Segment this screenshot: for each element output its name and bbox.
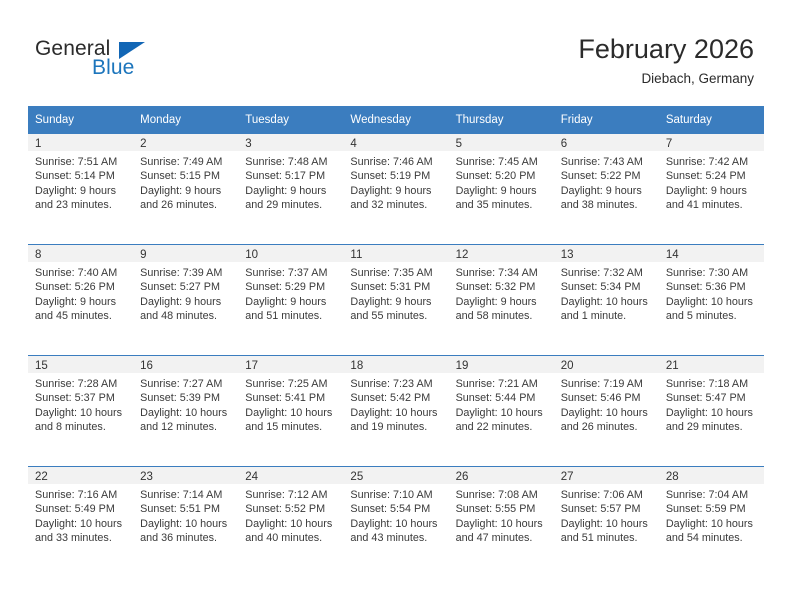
day-number: 7 — [659, 134, 764, 151]
calendar-day-cell[interactable]: 13Sunrise: 7:32 AMSunset: 5:34 PMDayligh… — [554, 245, 659, 356]
calendar-day-cell[interactable]: 23Sunrise: 7:14 AMSunset: 5:51 PMDayligh… — [133, 467, 238, 578]
day-number: 21 — [659, 356, 764, 373]
weekday-header-sunday: Sunday — [28, 106, 133, 134]
sunrise-text: Sunrise: 7:10 AM — [350, 488, 442, 502]
daylight-text: Daylight: 10 hours and 36 minutes. — [140, 517, 232, 546]
calendar-day-cell[interactable]: 3Sunrise: 7:48 AMSunset: 5:17 PMDaylight… — [238, 134, 343, 245]
daylight-text: Daylight: 10 hours and 33 minutes. — [35, 517, 127, 546]
daylight-text: Daylight: 9 hours and 58 minutes. — [456, 295, 548, 324]
sunset-text: Sunset: 5:22 PM — [561, 169, 653, 183]
weekday-header-tuesday: Tuesday — [238, 106, 343, 134]
sunset-text: Sunset: 5:27 PM — [140, 280, 232, 294]
sunrise-text: Sunrise: 7:40 AM — [35, 266, 127, 280]
location-subtitle: Diebach, Germany — [578, 69, 754, 89]
sunrise-text: Sunrise: 7:46 AM — [350, 155, 442, 169]
sunrise-text: Sunrise: 7:04 AM — [666, 488, 758, 502]
sunrise-text: Sunrise: 7:21 AM — [456, 377, 548, 391]
day-number: 12 — [449, 245, 554, 262]
daylight-text: Daylight: 10 hours and 12 minutes. — [140, 406, 232, 435]
daylight-text: Daylight: 10 hours and 43 minutes. — [350, 517, 442, 546]
calendar-day-cell[interactable]: 2Sunrise: 7:49 AMSunset: 5:15 PMDaylight… — [133, 134, 238, 245]
sunset-text: Sunset: 5:34 PM — [561, 280, 653, 294]
day-number: 23 — [133, 467, 238, 484]
calendar-day-cell[interactable]: 6Sunrise: 7:43 AMSunset: 5:22 PMDaylight… — [554, 134, 659, 245]
calendar-day-cell[interactable]: 16Sunrise: 7:27 AMSunset: 5:39 PMDayligh… — [133, 356, 238, 467]
daylight-text: Daylight: 9 hours and 29 minutes. — [245, 184, 337, 213]
weekday-header-thursday: Thursday — [449, 106, 554, 134]
sunset-text: Sunset: 5:51 PM — [140, 502, 232, 516]
daylight-text: Daylight: 10 hours and 29 minutes. — [666, 406, 758, 435]
calendar-day-cell[interactable]: 17Sunrise: 7:25 AMSunset: 5:41 PMDayligh… — [238, 356, 343, 467]
day-number: 14 — [659, 245, 764, 262]
calendar-day-cell[interactable]: 12Sunrise: 7:34 AMSunset: 5:32 PMDayligh… — [449, 245, 554, 356]
calendar-day-cell[interactable]: 14Sunrise: 7:30 AMSunset: 5:36 PMDayligh… — [659, 245, 764, 356]
sunset-text: Sunset: 5:14 PM — [35, 169, 127, 183]
daylight-text: Daylight: 10 hours and 40 minutes. — [245, 517, 337, 546]
sunrise-text: Sunrise: 7:23 AM — [350, 377, 442, 391]
sunrise-text: Sunrise: 7:34 AM — [456, 266, 548, 280]
calendar-page: General Blue February 2026 Diebach, Germ… — [0, 0, 792, 612]
sunrise-sunset-calendar: Sunday Monday Tuesday Wednesday Thursday… — [28, 106, 764, 577]
daylight-text: Daylight: 9 hours and 38 minutes. — [561, 184, 653, 213]
calendar-day-cell[interactable]: 15Sunrise: 7:28 AMSunset: 5:37 PMDayligh… — [28, 356, 133, 467]
weekday-header-saturday: Saturday — [659, 106, 764, 134]
sunset-text: Sunset: 5:52 PM — [245, 502, 337, 516]
daylight-text: Daylight: 9 hours and 23 minutes. — [35, 184, 127, 213]
day-number: 25 — [343, 467, 448, 484]
sunset-text: Sunset: 5:44 PM — [456, 391, 548, 405]
sunset-text: Sunset: 5:37 PM — [35, 391, 127, 405]
calendar-day-cell[interactable]: 11Sunrise: 7:35 AMSunset: 5:31 PMDayligh… — [343, 245, 448, 356]
daylight-text: Daylight: 10 hours and 26 minutes. — [561, 406, 653, 435]
sunset-text: Sunset: 5:49 PM — [35, 502, 127, 516]
sunset-text: Sunset: 5:54 PM — [350, 502, 442, 516]
day-number: 22 — [28, 467, 133, 484]
sunrise-text: Sunrise: 7:43 AM — [561, 155, 653, 169]
daylight-text: Daylight: 10 hours and 8 minutes. — [35, 406, 127, 435]
week-row: 22Sunrise: 7:16 AMSunset: 5:49 PMDayligh… — [28, 467, 764, 578]
calendar-day-cell[interactable]: 19Sunrise: 7:21 AMSunset: 5:44 PMDayligh… — [449, 356, 554, 467]
day-number: 8 — [28, 245, 133, 262]
daylight-text: Daylight: 9 hours and 55 minutes. — [350, 295, 442, 324]
day-number: 24 — [238, 467, 343, 484]
calendar-day-cell[interactable]: 4Sunrise: 7:46 AMSunset: 5:19 PMDaylight… — [343, 134, 448, 245]
brand-name-blue: Blue — [92, 56, 134, 80]
weekday-header-wednesday: Wednesday — [343, 106, 448, 134]
sunrise-text: Sunrise: 7:51 AM — [35, 155, 127, 169]
sunset-text: Sunset: 5:39 PM — [140, 391, 232, 405]
sunrise-text: Sunrise: 7:39 AM — [140, 266, 232, 280]
sunrise-text: Sunrise: 7:42 AM — [666, 155, 758, 169]
day-number: 1 — [28, 134, 133, 151]
daylight-text: Daylight: 10 hours and 51 minutes. — [561, 517, 653, 546]
sunrise-text: Sunrise: 7:27 AM — [140, 377, 232, 391]
sunrise-text: Sunrise: 7:16 AM — [35, 488, 127, 502]
brand-logo[interactable]: General Blue — [35, 37, 265, 93]
sunset-text: Sunset: 5:32 PM — [456, 280, 548, 294]
daylight-text: Daylight: 9 hours and 41 minutes. — [666, 184, 758, 213]
daylight-text: Daylight: 9 hours and 35 minutes. — [456, 184, 548, 213]
daylight-text: Daylight: 9 hours and 45 minutes. — [35, 295, 127, 324]
daylight-text: Daylight: 10 hours and 1 minute. — [561, 295, 653, 324]
day-number: 28 — [659, 467, 764, 484]
calendar-day-cell[interactable]: 27Sunrise: 7:06 AMSunset: 5:57 PMDayligh… — [554, 467, 659, 578]
sunset-text: Sunset: 5:31 PM — [350, 280, 442, 294]
calendar-day-cell[interactable]: 21Sunrise: 7:18 AMSunset: 5:47 PMDayligh… — [659, 356, 764, 467]
day-number: 2 — [133, 134, 238, 151]
title-block: February 2026 Diebach, Germany — [578, 33, 754, 89]
sunset-text: Sunset: 5:41 PM — [245, 391, 337, 405]
calendar-day-cell[interactable]: 7Sunrise: 7:42 AMSunset: 5:24 PMDaylight… — [659, 134, 764, 245]
calendar-day-cell[interactable]: 8Sunrise: 7:40 AMSunset: 5:26 PMDaylight… — [28, 245, 133, 356]
weekday-header-friday: Friday — [554, 106, 659, 134]
sunrise-text: Sunrise: 7:14 AM — [140, 488, 232, 502]
day-number: 10 — [238, 245, 343, 262]
sunset-text: Sunset: 5:15 PM — [140, 169, 232, 183]
sunset-text: Sunset: 5:47 PM — [666, 391, 758, 405]
sunrise-text: Sunrise: 7:49 AM — [140, 155, 232, 169]
sunset-text: Sunset: 5:42 PM — [350, 391, 442, 405]
week-row: 8Sunrise: 7:40 AMSunset: 5:26 PMDaylight… — [28, 245, 764, 356]
sunset-text: Sunset: 5:24 PM — [666, 169, 758, 183]
daylight-text: Daylight: 10 hours and 47 minutes. — [456, 517, 548, 546]
day-number: 6 — [554, 134, 659, 151]
page-title: February 2026 — [578, 33, 754, 65]
day-number: 27 — [554, 467, 659, 484]
sunset-text: Sunset: 5:59 PM — [666, 502, 758, 516]
sunrise-text: Sunrise: 7:18 AM — [666, 377, 758, 391]
week-row: 15Sunrise: 7:28 AMSunset: 5:37 PMDayligh… — [28, 356, 764, 467]
day-number: 17 — [238, 356, 343, 373]
sunrise-text: Sunrise: 7:35 AM — [350, 266, 442, 280]
sunrise-text: Sunrise: 7:19 AM — [561, 377, 653, 391]
sunrise-text: Sunrise: 7:48 AM — [245, 155, 337, 169]
calendar-day-cell[interactable]: 22Sunrise: 7:16 AMSunset: 5:49 PMDayligh… — [28, 467, 133, 578]
daylight-text: Daylight: 10 hours and 22 minutes. — [456, 406, 548, 435]
day-number: 9 — [133, 245, 238, 262]
day-number: 4 — [343, 134, 448, 151]
weekday-header-row: Sunday Monday Tuesday Wednesday Thursday… — [28, 106, 764, 134]
sunrise-text: Sunrise: 7:28 AM — [35, 377, 127, 391]
calendar-day-cell[interactable]: 1Sunrise: 7:51 AMSunset: 5:14 PMDaylight… — [28, 134, 133, 245]
sunset-text: Sunset: 5:57 PM — [561, 502, 653, 516]
weekday-header-monday: Monday — [133, 106, 238, 134]
calendar-day-cell[interactable]: 9Sunrise: 7:39 AMSunset: 5:27 PMDaylight… — [133, 245, 238, 356]
day-number: 18 — [343, 356, 448, 373]
day-number: 19 — [449, 356, 554, 373]
day-number: 5 — [449, 134, 554, 151]
sunrise-text: Sunrise: 7:08 AM — [456, 488, 548, 502]
sunrise-text: Sunrise: 7:12 AM — [245, 488, 337, 502]
sunset-text: Sunset: 5:46 PM — [561, 391, 653, 405]
sunrise-text: Sunrise: 7:06 AM — [561, 488, 653, 502]
sunset-text: Sunset: 5:17 PM — [245, 169, 337, 183]
sunset-text: Sunset: 5:19 PM — [350, 169, 442, 183]
day-number: 3 — [238, 134, 343, 151]
sunset-text: Sunset: 5:55 PM — [456, 502, 548, 516]
daylight-text: Daylight: 10 hours and 5 minutes. — [666, 295, 758, 324]
day-number: 11 — [343, 245, 448, 262]
calendar-day-cell[interactable]: 10Sunrise: 7:37 AMSunset: 5:29 PMDayligh… — [238, 245, 343, 356]
day-number: 20 — [554, 356, 659, 373]
daylight-text: Daylight: 9 hours and 51 minutes. — [245, 295, 337, 324]
sunrise-text: Sunrise: 7:45 AM — [456, 155, 548, 169]
calendar-day-cell[interactable]: 20Sunrise: 7:19 AMSunset: 5:46 PMDayligh… — [554, 356, 659, 467]
sunrise-text: Sunrise: 7:30 AM — [666, 266, 758, 280]
calendar-day-cell[interactable]: 28Sunrise: 7:04 AMSunset: 5:59 PMDayligh… — [659, 467, 764, 578]
daylight-text: Daylight: 9 hours and 32 minutes. — [350, 184, 442, 213]
day-number: 13 — [554, 245, 659, 262]
daylight-text: Daylight: 9 hours and 48 minutes. — [140, 295, 232, 324]
sunset-text: Sunset: 5:36 PM — [666, 280, 758, 294]
daylight-text: Daylight: 9 hours and 26 minutes. — [140, 184, 232, 213]
calendar-day-cell[interactable]: 5Sunrise: 7:45 AMSunset: 5:20 PMDaylight… — [449, 134, 554, 245]
sunrise-text: Sunrise: 7:25 AM — [245, 377, 337, 391]
calendar-day-cell[interactable]: 26Sunrise: 7:08 AMSunset: 5:55 PMDayligh… — [449, 467, 554, 578]
day-number: 16 — [133, 356, 238, 373]
daylight-text: Daylight: 10 hours and 19 minutes. — [350, 406, 442, 435]
sunset-text: Sunset: 5:20 PM — [456, 169, 548, 183]
sunset-text: Sunset: 5:29 PM — [245, 280, 337, 294]
daylight-text: Daylight: 10 hours and 15 minutes. — [245, 406, 337, 435]
calendar-body: 1Sunrise: 7:51 AMSunset: 5:14 PMDaylight… — [28, 134, 764, 577]
sunrise-text: Sunrise: 7:37 AM — [245, 266, 337, 280]
sunset-text: Sunset: 5:26 PM — [35, 280, 127, 294]
page-header: General Blue February 2026 Diebach, Germ… — [0, 0, 792, 104]
week-row: 1Sunrise: 7:51 AMSunset: 5:14 PMDaylight… — [28, 134, 764, 245]
daylight-text: Daylight: 10 hours and 54 minutes. — [666, 517, 758, 546]
sunrise-text: Sunrise: 7:32 AM — [561, 266, 653, 280]
day-number: 26 — [449, 467, 554, 484]
calendar-day-cell[interactable]: 18Sunrise: 7:23 AMSunset: 5:42 PMDayligh… — [343, 356, 448, 467]
calendar-day-cell[interactable]: 25Sunrise: 7:10 AMSunset: 5:54 PMDayligh… — [343, 467, 448, 578]
day-number: 15 — [28, 356, 133, 373]
calendar-day-cell[interactable]: 24Sunrise: 7:12 AMSunset: 5:52 PMDayligh… — [238, 467, 343, 578]
